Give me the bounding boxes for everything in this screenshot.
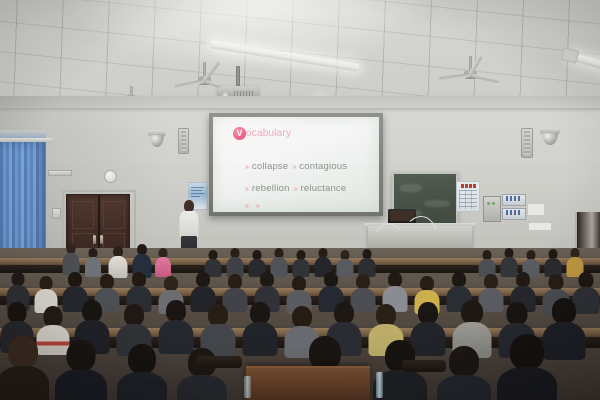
list-item (108, 246, 128, 276)
breaker-switch[interactable] (514, 196, 516, 201)
student-head (461, 300, 483, 324)
dome-security-camera-left (148, 130, 166, 150)
vocabulary-word: reluctance (301, 183, 347, 194)
list-item (292, 250, 310, 276)
student-head (100, 274, 114, 289)
student-head (82, 300, 102, 322)
projection-screen: V ocabulary » collapse » contagious » re… (213, 117, 379, 212)
student-head (164, 276, 178, 291)
breaker-switch[interactable] (506, 210, 508, 215)
student-head (166, 300, 186, 322)
water-bottle (376, 372, 383, 398)
poster-header-char (469, 184, 472, 188)
bullet-icon: » (294, 186, 297, 193)
speaker-mesh (181, 131, 186, 151)
student-head (449, 346, 479, 377)
poster-header (458, 183, 478, 188)
door-handle[interactable] (100, 235, 103, 244)
student-head (516, 272, 530, 287)
student-head (549, 274, 564, 290)
wall-switch-plate (52, 208, 61, 219)
student-head (552, 298, 576, 324)
chalk-smudge (424, 200, 450, 207)
poster-line (191, 193, 204, 194)
poster-line (191, 187, 204, 188)
list-item (226, 248, 244, 276)
camera-dome (150, 135, 164, 147)
breaker-switch[interactable] (518, 210, 520, 215)
student-head (452, 272, 466, 287)
foreground-wooden-desk (246, 366, 370, 400)
student-head (418, 302, 438, 324)
bullet-icon: » (245, 203, 248, 210)
student-head (250, 302, 270, 324)
door-handle[interactable] (93, 235, 96, 244)
water-bottle (244, 376, 251, 398)
student-head (420, 276, 434, 291)
poster-header-char (465, 184, 468, 188)
slide-word-row: » » (245, 203, 263, 210)
fan-blade (438, 73, 470, 81)
student-torso (437, 375, 491, 400)
projector-mount-rod (236, 66, 240, 88)
student-head (12, 272, 25, 286)
student-head (376, 304, 396, 326)
wall-speaker-left (178, 128, 189, 154)
wall-mounted-box (48, 170, 72, 176)
presenter-shirt (180, 211, 199, 237)
student-head (132, 272, 146, 287)
student-head (510, 334, 544, 370)
bullet-icon: » (245, 164, 248, 171)
breaker-panel-lower[interactable] (502, 208, 526, 220)
list-item (200, 304, 236, 354)
student-head (579, 272, 594, 288)
student-torso (293, 259, 310, 277)
student-torso (177, 375, 227, 400)
red-header-safety-poster (456, 181, 480, 212)
student-head (196, 272, 210, 287)
list-item (54, 340, 108, 400)
student-torso (497, 367, 557, 400)
student-head (124, 304, 144, 326)
wall-notice (527, 203, 545, 216)
student-head (68, 272, 82, 287)
lecture-hall-photo: V ocabulary » collapse » contagious » re… (0, 0, 600, 400)
slide-word-row: » rebellion » reluctance (245, 183, 346, 194)
student-torso (55, 369, 107, 400)
indicator-light (487, 202, 490, 205)
poster-body-text (459, 190, 477, 209)
vocabulary-word: contagious (299, 161, 347, 172)
wall-clock (104, 170, 117, 183)
poster-line (191, 190, 202, 191)
dome-security-camera-right (540, 128, 560, 150)
vocabulary-word: rebellion (252, 183, 290, 194)
lecture-hall-seat (196, 356, 242, 368)
bullet-icon: » (256, 203, 259, 210)
list-item (116, 344, 168, 400)
poster-header-char (461, 184, 464, 188)
student-head (324, 272, 338, 287)
breaker-switch[interactable] (510, 210, 512, 215)
student-head (208, 304, 228, 326)
lecture-hall-seat (402, 360, 446, 372)
list-item (242, 302, 278, 354)
list-item (544, 249, 562, 276)
student-head (40, 276, 53, 290)
ceiling-fan (440, 56, 500, 86)
slide-title: V ocabulary (233, 127, 291, 140)
list-item (478, 250, 496, 276)
student-head (260, 272, 274, 287)
student-head (507, 302, 528, 325)
student-head (67, 340, 96, 371)
poster-header-char (473, 184, 476, 188)
student-head (8, 302, 27, 323)
student-head (388, 272, 402, 287)
student-head (292, 306, 312, 328)
list-item (496, 334, 558, 400)
student-torso (243, 322, 278, 356)
student-head (292, 276, 306, 291)
front-row-pink-jacket (155, 257, 171, 277)
camera-dome (542, 133, 557, 145)
student-head (309, 336, 341, 370)
bullet-icon: » (245, 186, 248, 193)
student-head (334, 302, 354, 324)
list-item (358, 249, 376, 276)
breaker-switch[interactable] (510, 196, 512, 201)
projection-screen-frame: V ocabulary » collapse » contagious » re… (209, 113, 383, 216)
fan-blade (470, 73, 500, 83)
breaker-switch[interactable] (514, 210, 516, 215)
list-item (0, 336, 50, 400)
breaker-switch[interactable] (506, 196, 508, 201)
door-panel (103, 201, 125, 229)
student-head (44, 306, 63, 327)
door-panel (72, 201, 94, 229)
student-torso (117, 372, 167, 400)
student-head (8, 336, 38, 368)
list-item (436, 346, 492, 400)
list-item (34, 276, 58, 310)
poster-line (191, 196, 200, 197)
slide-word-row: » collapse » contagious (245, 161, 347, 172)
breaker-panel-upper[interactable] (502, 194, 526, 206)
list-item (62, 244, 80, 274)
indicator-light (492, 202, 495, 205)
chalk-smudge (400, 184, 422, 192)
slide-title-text: ocabulary (246, 128, 291, 139)
slide-title-badge: V (233, 127, 246, 140)
student-head (484, 274, 498, 289)
speaker-mesh (524, 131, 530, 155)
breaker-switch[interactable] (518, 196, 520, 201)
student-head (128, 344, 156, 374)
student-head (356, 274, 370, 289)
student-head (228, 274, 242, 289)
student-torso (0, 366, 49, 400)
wall-speaker-right (521, 128, 533, 158)
wall-notice (528, 222, 552, 231)
electrical-cabinet[interactable] (483, 196, 501, 222)
list-item (154, 248, 172, 276)
vocabulary-word: collapse (252, 161, 288, 172)
bullet-icon: » (292, 164, 295, 171)
